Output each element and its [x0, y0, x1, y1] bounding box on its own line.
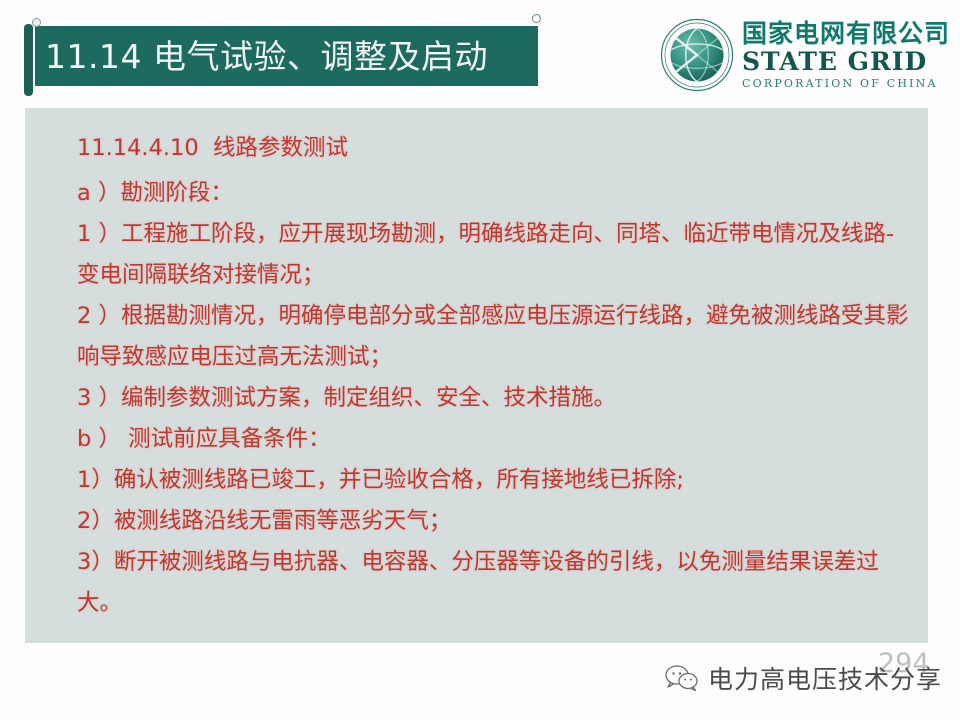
content-paragraph-a1: 1 ）工程施工阶段，应开展现场勘测，明确线路走向、同塔、临近带电情况及线路-变电…: [77, 214, 912, 296]
state-grid-globe-emblem-icon: [660, 18, 734, 92]
slide-canvas: 11.14 电气试验、调整及启动: [0, 0, 960, 720]
content-paragraph-a3: 3 ）编制参数测试方案，制定组织、安全、技术措施。: [77, 378, 912, 419]
footer-watermark: 电力高电压技术分享: [665, 655, 955, 701]
content-heading: 11.14.4.10 线路参数测试: [77, 128, 912, 169]
title-accent-bar: [24, 24, 33, 96]
content-paragraph-b2: 2）被测线路沿线无雷雨等恶劣天气；: [77, 501, 912, 542]
wechat-icon: [665, 664, 699, 692]
content-paragraph-b3: 3）断开被测线路与电抗器、电容器、分压器等设备的引线，以免测量结果误差过大。: [77, 542, 912, 624]
logo-company-sub-en: CORPORATION OF CHINA: [742, 78, 950, 89]
slide-title-block[interactable]: 11.14 电气试验、调整及启动: [24, 26, 538, 86]
logo-company-en: STATE GRID: [742, 49, 950, 74]
logo-company-cn: 国家电网有限公司: [742, 21, 950, 46]
state-grid-logo: 国家电网有限公司 STATE GRID CORPORATION OF CHINA: [660, 14, 945, 96]
content-paragraph-b: b ） 测试前应具备条件：: [77, 419, 912, 460]
selection-handle-top-right[interactable]: [532, 14, 541, 23]
title-box[interactable]: 11.14 电气试验、调整及启动: [35, 26, 538, 86]
watermark-text: 电力高电压技术分享: [708, 660, 942, 696]
page-title: 11.14 电气试验、调整及启动: [45, 40, 488, 73]
selection-handle-top-left[interactable]: [32, 18, 41, 27]
content-panel: 11.14.4.10 线路参数测试 a ）勘测阶段： 1 ）工程施工阶段，应开展…: [25, 108, 928, 643]
content-paragraph-a: a ）勘测阶段：: [77, 173, 912, 214]
content-paragraph-b1: 1）确认被测线路已竣工，并已验收合格，所有接地线已拆除;: [77, 460, 912, 501]
content-body[interactable]: 11.14.4.10 线路参数测试 a ）勘测阶段： 1 ）工程施工阶段，应开展…: [77, 128, 912, 624]
logo-wordmark: 国家电网有限公司 STATE GRID CORPORATION OF CHINA: [742, 21, 950, 89]
content-paragraph-a2: 2 ）根据勘测情况，明确停电部分或全部感应电压源运行线路，避免被测线路受其影响导…: [77, 296, 912, 378]
